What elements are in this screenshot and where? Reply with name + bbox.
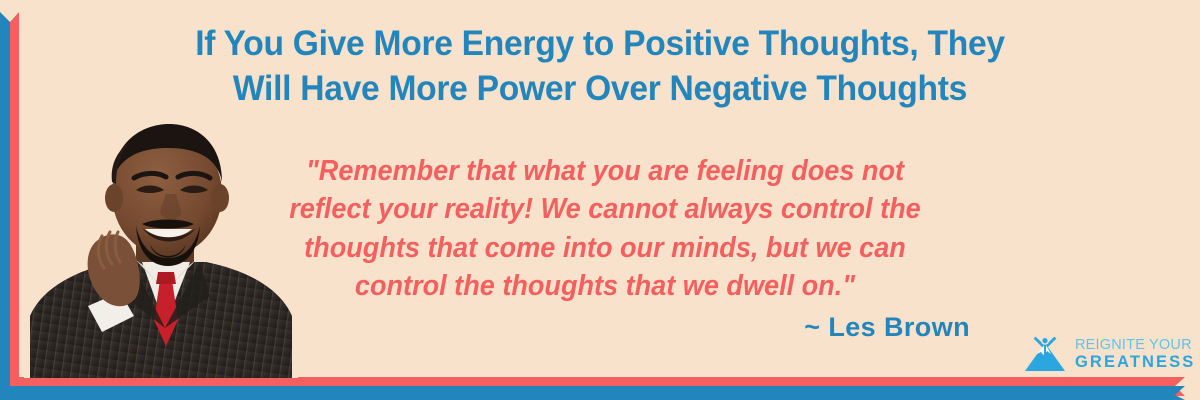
- headline-line-1: If You Give More Energy to Positive Thou…: [130, 22, 1071, 67]
- quote-banner: If You Give More Energy to Positive Thou…: [0, 0, 1200, 400]
- bottom-coral-bar: [10, 377, 1185, 396]
- logo-line-top: REIGNITE YOUR: [1075, 338, 1195, 353]
- quote-line-1: "Remember that what you are feeling does…: [258, 152, 952, 190]
- quote-line-4: control the thoughts that we dwell on.": [258, 267, 952, 305]
- quote-attribution: ~ Les Brown: [520, 312, 970, 343]
- quote-text: "Remember that what you are feeling does…: [258, 152, 952, 306]
- les-brown-portrait-illustration: [24, 120, 298, 378]
- portrait-photo: [24, 120, 298, 378]
- left-coral-bar: [10, 12, 19, 378]
- headline: If You Give More Energy to Positive Thou…: [130, 22, 1071, 112]
- logo-wordmark: REIGNITE YOUR GREATNESS: [1075, 338, 1195, 371]
- mountain-person-icon: [1022, 335, 1068, 373]
- brand-logo[interactable]: REIGNITE YOUR GREATNESS: [1022, 333, 1182, 375]
- quote-line-2: reflect your reality! We cannot always c…: [258, 190, 952, 228]
- bottom-blue-bar: [0, 386, 1185, 400]
- logo-line-bottom: GREATNESS: [1075, 354, 1195, 371]
- headline-line-2: Will Have More Power Over Negative Thoug…: [130, 67, 1071, 112]
- left-blue-bar: [0, 12, 10, 400]
- quote-line-3: thoughts that come into our minds, but w…: [258, 229, 952, 267]
